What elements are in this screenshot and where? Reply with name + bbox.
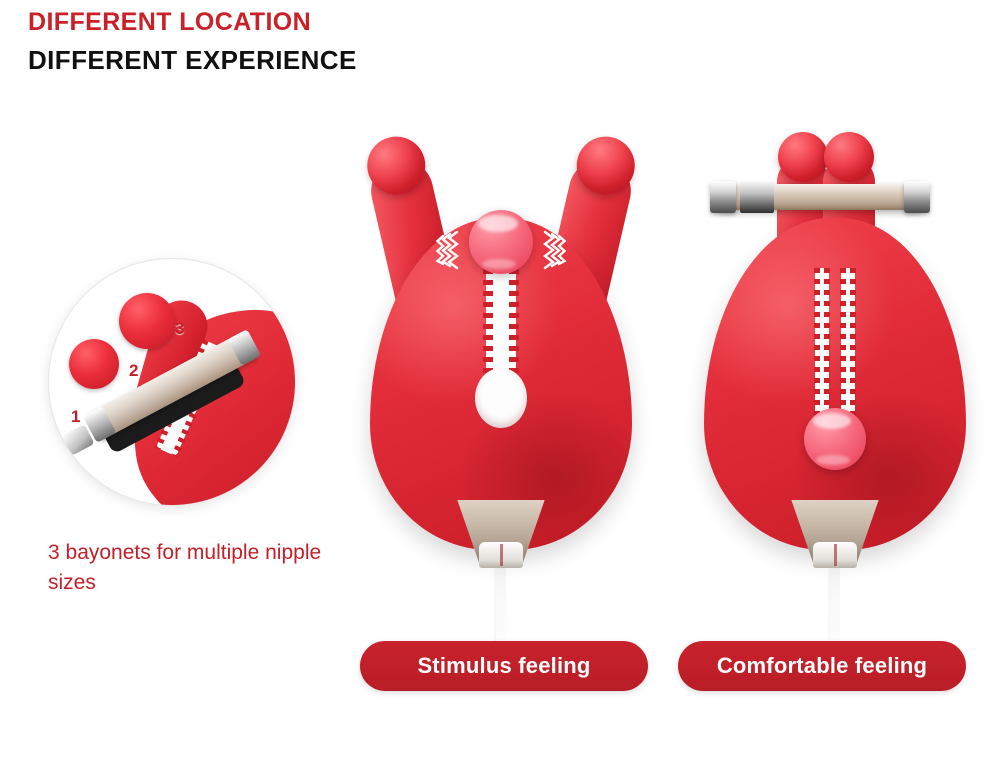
vibration-lines-left-icon — [435, 226, 465, 272]
serrated-slot-right — [841, 268, 855, 428]
bayonet-number-2: 2 — [129, 361, 138, 381]
dot-gloss-top — [478, 215, 518, 232]
serration-right-icon — [509, 258, 519, 378]
vibration-indicator-dot — [804, 408, 866, 470]
vibration-lines-right-icon — [537, 226, 567, 272]
page-title-primary: DIFFERENT LOCATION — [28, 6, 668, 38]
bayonet-number-1: 1 — [71, 407, 80, 427]
bayonet-detail-inset: 1 2 3 — [48, 258, 296, 506]
label-comfortable-feeling: Comfortable feeling — [678, 641, 966, 691]
base-petal-detail — [479, 542, 523, 568]
product-feature-image: DIFFERENT LOCATION DIFFERENT EXPERIENCE … — [0, 0, 1000, 770]
serrated-slot-left — [815, 268, 829, 428]
slot-bulb — [475, 368, 527, 428]
product-stimulus — [356, 118, 646, 588]
dot-gloss-bottom — [816, 455, 849, 465]
label-stimulus-feeling: Stimulus feeling — [360, 641, 648, 691]
bar-end-right-icon — [904, 181, 930, 213]
clamp-tip-ball-right — [824, 132, 874, 182]
dot-gloss-top — [813, 413, 851, 429]
product-comfortable — [690, 118, 980, 588]
bayonet-number-3: 3 — [175, 319, 184, 339]
inset-scene: 1 2 3 — [49, 259, 295, 505]
bar-end-left-icon — [710, 181, 736, 213]
page-title-secondary: DIFFERENT EXPERIENCE — [28, 44, 668, 77]
inset-ball-upper — [119, 293, 175, 349]
dot-gloss-bottom — [482, 259, 517, 269]
bayonet-adjustment-bar — [718, 184, 922, 210]
clamp-opening-slot — [475, 258, 527, 428]
inset-ball-lower — [69, 339, 119, 389]
inset-caption: 3 bayonets for multiple nipple sizes — [48, 538, 348, 598]
bar-notch-icon — [740, 181, 774, 213]
inset-circle: 1 2 3 — [48, 258, 296, 506]
base-petal-detail — [813, 542, 857, 568]
serration-left-icon — [483, 258, 493, 378]
heading-block: DIFFERENT LOCATION DIFFERENT EXPERIENCE — [28, 6, 668, 77]
vibration-indicator-dot — [469, 210, 533, 274]
